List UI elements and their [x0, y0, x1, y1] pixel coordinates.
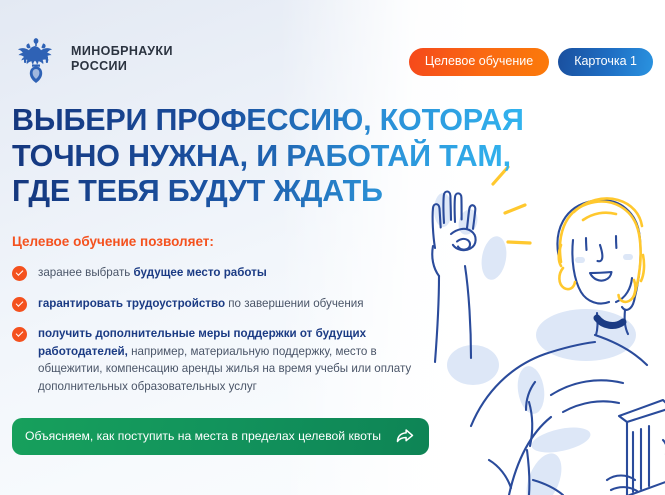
- check-circle-icon: [12, 297, 27, 312]
- cta-label: Объясняем, как поступить на места в пред…: [25, 429, 381, 443]
- russian-double-headed-eagle-emblem-icon: [12, 34, 60, 84]
- ministry-header: МИНОБРНАУКИ РОССИИ: [12, 34, 173, 84]
- badge-target-education[interactable]: Целевое обучение: [409, 48, 549, 76]
- headline-line-2: ТОЧНО НУЖНА, И РАБОТАЙ ТАМ,: [12, 139, 524, 175]
- ministry-line-2: РОССИИ: [71, 59, 173, 74]
- list-item: гарантировать трудоустройство по заверше…: [12, 295, 412, 313]
- ministry-name: МИНОБРНАУКИ РОССИИ: [71, 44, 173, 74]
- promo-poster: МИНОБРНАУКИ РОССИИ Целевое обучение Карт…: [0, 0, 665, 495]
- benefits-title: Целевое обучение позволяет:: [12, 234, 214, 249]
- badge-card-number[interactable]: Карточка 1: [558, 48, 653, 76]
- benefits-list: заранее выбрать будущее место работы гар…: [12, 264, 412, 409]
- cta-button[interactable]: Объясняем, как поступить на места в пред…: [12, 418, 429, 455]
- headline-line-3: ГДЕ ТЕБЯ БУДУТ ЖДАТЬ: [12, 174, 524, 210]
- list-item: заранее выбрать будущее место работы: [12, 264, 412, 282]
- benefit-text-3: получить дополнительные меры поддержки о…: [38, 325, 412, 395]
- headline-line-1: ВЫБЕРИ ПРОФЕССИЮ, КОТОРАЯ: [12, 103, 524, 139]
- benefit-text-2: гарантировать трудоустройство по заверше…: [38, 295, 364, 313]
- share-arrow-icon: [395, 427, 415, 445]
- badge-group: Целевое обучение Карточка 1: [409, 48, 653, 76]
- benefit-text-1: заранее выбрать будущее место работы: [38, 264, 267, 282]
- check-circle-icon: [12, 327, 27, 342]
- ministry-line-1: МИНОБРНАУКИ: [71, 44, 173, 59]
- list-item: получить дополнительные меры поддержки о…: [12, 325, 412, 395]
- page-title: ВЫБЕРИ ПРОФЕССИЮ, КОТОРАЯ ТОЧНО НУЖНА, И…: [12, 103, 524, 210]
- check-circle-icon: [12, 266, 27, 281]
